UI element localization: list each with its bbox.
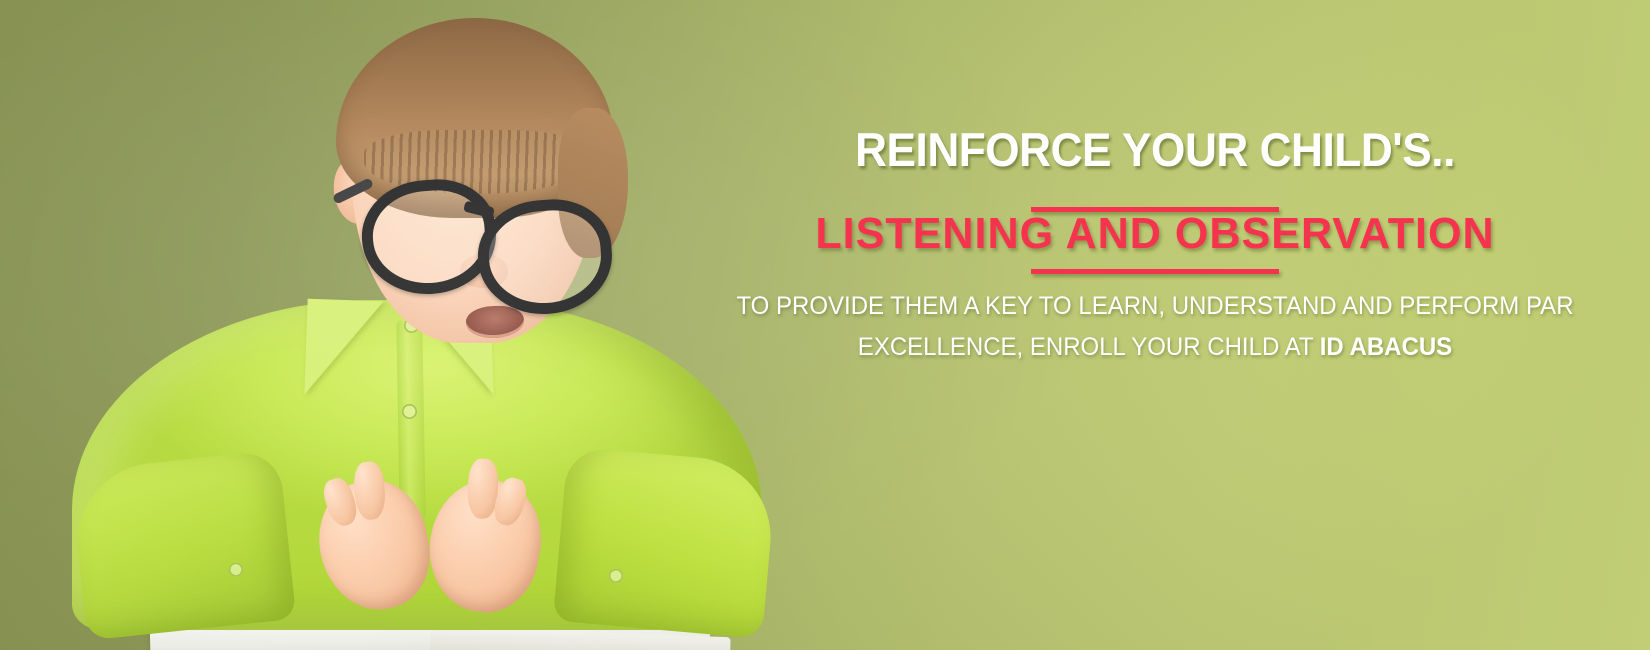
- body-line-2-prefix: EXCELLENCE, ENROLL YOUR CHILD AT: [858, 333, 1320, 361]
- banner-copy: REINFORCE YOUR CHILD'S.. LISTENING AND O…: [660, 0, 1650, 650]
- subheadline: LISTENING AND OBSERVATION: [670, 212, 1640, 256]
- cuff-button: [608, 568, 623, 583]
- head: [330, 18, 620, 348]
- cuff-button: [228, 562, 243, 577]
- body-line-1: TO PROVIDE THEM A KEY TO LEARN, UNDERSTA…: [680, 286, 1630, 327]
- shirt-button: [402, 404, 417, 419]
- headline: REINFORCE YOUR CHILD'S..: [690, 126, 1621, 173]
- body-copy: TO PROVIDE THEM A KEY TO LEARN, UNDERSTA…: [680, 286, 1630, 368]
- brand-name: ID ABACUS: [1320, 333, 1452, 361]
- promo-banner: REINFORCE YOUR CHILD'S.. LISTENING AND O…: [0, 0, 1650, 650]
- divider-bottom: [1031, 269, 1279, 274]
- eyeglasses: [358, 174, 608, 286]
- body-line-2: EXCELLENCE, ENROLL YOUR CHILD AT ID ABAC…: [680, 327, 1630, 368]
- glasses-lens-left: [358, 175, 500, 298]
- mouth: [465, 305, 525, 340]
